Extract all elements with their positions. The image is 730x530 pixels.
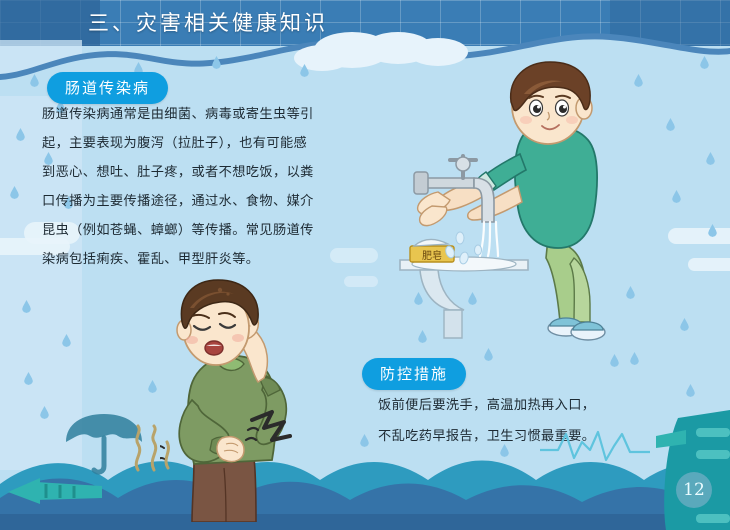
- page-title: 三、灾害相关健康知识: [88, 7, 328, 37]
- fish-icon: [6, 474, 126, 508]
- soft-cloud: [344, 276, 378, 287]
- rain-drop: [630, 352, 639, 365]
- page-number-panel: [656, 410, 730, 530]
- rain-drop: [672, 190, 681, 203]
- heartbeat-icon: [540, 428, 650, 468]
- rain-drop: [686, 384, 695, 397]
- body-line: 口传播为主要传播途径，通过水、食物、媒介: [42, 187, 347, 216]
- svg-text:肥皂: 肥皂: [422, 249, 442, 262]
- soft-cloud: [668, 228, 730, 244]
- rain-drop: [666, 118, 675, 131]
- illustration-boy-with-stomachache: [160, 272, 345, 522]
- infographic-page: 三、灾害相关健康知识 肠道传染病: [0, 0, 730, 530]
- rain-drop: [148, 380, 157, 393]
- steam-icon: [128, 424, 178, 472]
- rain-drop: [680, 318, 689, 331]
- section-badge-prevention-measures: 防控措施: [362, 358, 466, 390]
- rain-drop: [610, 354, 619, 367]
- body-line: 昆虫（例如苍蝇、蟑螂）等传播。常见肠道传: [42, 216, 347, 245]
- page-number: 12: [676, 472, 712, 508]
- body-line: 染病包括痢疾、霍乱、甲型肝炎等。: [42, 245, 347, 274]
- body-line: 到恶心、想吐、肚子疼，或者不想吃饭，以粪: [42, 158, 347, 187]
- rain-drop: [706, 152, 715, 165]
- body-line: 饭前便后要洗手，高温加热再入口，: [378, 390, 678, 421]
- illustration-boy-washing-hands: 肥皂: [398, 60, 613, 350]
- body-line: 肠道传染病通常是由细菌、病毒或寄生虫等引: [42, 100, 347, 129]
- section-body-intestinal-disease: 肠道传染病通常是由细菌、病毒或寄生虫等引 起，主要表现为腹泻（拉肚子），也有可能…: [42, 100, 347, 274]
- rain-drop: [708, 224, 717, 237]
- body-line: 起，主要表现为腹泻（拉肚子），也有可能感: [42, 129, 347, 158]
- soft-cloud: [688, 258, 730, 271]
- rain-drop: [626, 286, 635, 299]
